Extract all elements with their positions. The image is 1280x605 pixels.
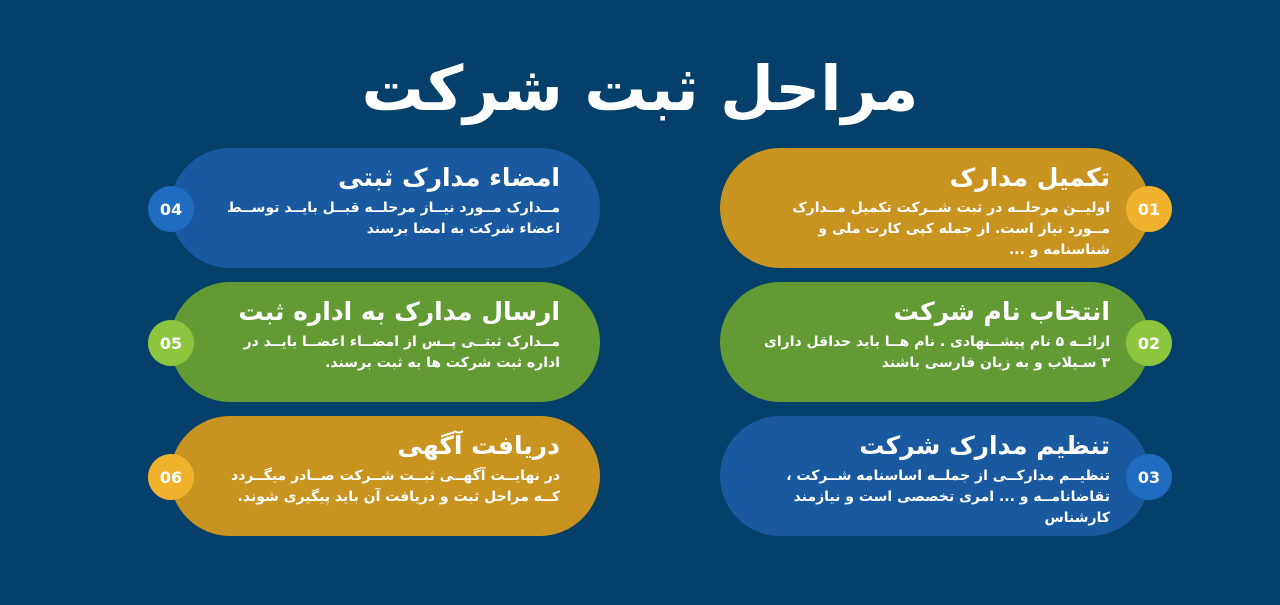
step-description: ارائــه ۵ نام پیشــنهادی . نام هــا باید… xyxy=(760,332,1110,374)
step-number-badge: 06 xyxy=(148,454,194,500)
step-card-body-05: ارسال مدارک به اداره ثبت مــدارک ثبتــی … xyxy=(170,282,600,402)
step-number-badge: 01 xyxy=(1126,186,1172,232)
step-title: امضاء مدارک ثبتی xyxy=(210,164,560,192)
step-card-body-02: انتخاب نام شرکت ارائــه ۵ نام پیشــنهادی… xyxy=(720,282,1150,402)
step-card-05[interactable]: ارسال مدارک به اداره ثبت مــدارک ثبتــی … xyxy=(170,282,600,402)
step-title: ارسال مدارک به اداره ثبت xyxy=(210,298,560,326)
step-card-03[interactable]: تنظیم مدارک شرکت تنظیــم مدارکــی از جمل… xyxy=(720,416,1150,536)
step-card-04[interactable]: امضاء مدارک ثبتی مــدارک مــورد نیــاز م… xyxy=(170,148,600,268)
step-title: تنظیم مدارک شرکت xyxy=(760,432,1110,460)
step-card-body-03: تنظیم مدارک شرکت تنظیــم مدارکــی از جمل… xyxy=(720,416,1150,536)
step-card-body-01: تکمیل مدارک اولیــن مرحلــه در ثبت شــرک… xyxy=(720,148,1150,268)
step-card-01[interactable]: تکمیل مدارک اولیــن مرحلــه در ثبت شــرک… xyxy=(720,148,1150,268)
steps-column-right: تکمیل مدارک اولیــن مرحلــه در ثبت شــرک… xyxy=(680,148,1150,558)
step-description: مــدارک ثبتــی پــس از امضــاء اعضــا با… xyxy=(210,332,560,374)
step-title: دریافت آگهی xyxy=(210,432,560,460)
step-card-06[interactable]: دریافت آگهی در نهایــت آگهــی ثبــت شــر… xyxy=(170,416,600,536)
step-number-badge: 03 xyxy=(1126,454,1172,500)
step-title: تکمیل مدارک xyxy=(760,164,1110,192)
step-number-badge: 04 xyxy=(148,186,194,232)
page-title: مراحل ثبت شرکت xyxy=(0,56,1280,121)
step-card-body-06: دریافت آگهی در نهایــت آگهــی ثبــت شــر… xyxy=(170,416,600,536)
step-description: اولیــن مرحلــه در ثبت شــرکت تکمیل مــد… xyxy=(760,198,1110,261)
step-number-badge: 02 xyxy=(1126,320,1172,366)
step-card-body-04: امضاء مدارک ثبتی مــدارک مــورد نیــاز م… xyxy=(170,148,600,268)
step-title: انتخاب نام شرکت xyxy=(760,298,1110,326)
infographic-poster: مراحل ثبت شرکت تکمیل مدارک اولیــن مرحلـ… xyxy=(0,0,1280,605)
step-description: مــدارک مــورد نیــاز مرحلــه قبــل بایـ… xyxy=(210,198,560,240)
step-description: تنظیــم مدارکــی از جملــه اساسنامه شــر… xyxy=(760,466,1110,529)
step-number-badge: 05 xyxy=(148,320,194,366)
steps-column-left: امضاء مدارک ثبتی مــدارک مــورد نیــاز م… xyxy=(130,148,600,558)
step-description: در نهایــت آگهــی ثبــت شــرکت صــادر می… xyxy=(210,466,560,508)
step-card-02[interactable]: انتخاب نام شرکت ارائــه ۵ نام پیشــنهادی… xyxy=(720,282,1150,402)
steps-grid: تکمیل مدارک اولیــن مرحلــه در ثبت شــرک… xyxy=(0,148,1280,558)
